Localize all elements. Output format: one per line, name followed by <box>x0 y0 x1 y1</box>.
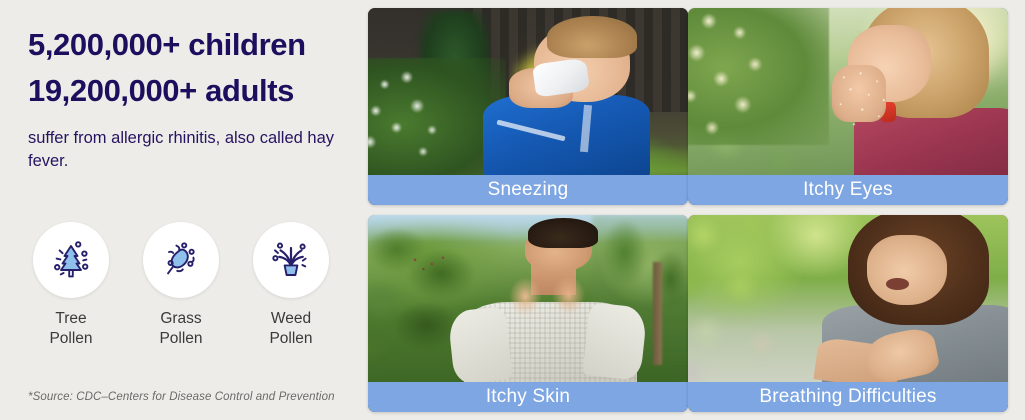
blue-jacket <box>483 95 649 175</box>
weed-pollen-icon <box>253 222 329 298</box>
pollen-item-grass: Grass Pollen <box>126 222 236 350</box>
pollen-label-grass: Grass Pollen <box>159 309 202 350</box>
scratching-hands <box>502 278 592 315</box>
itchy-eyes-photo <box>688 8 1008 175</box>
symptom-card-itchy-skin[interactable]: Itchy Skin <box>368 215 688 412</box>
symptom-cards-grid: Sneezing Itchy Eyes <box>360 0 1025 420</box>
symptom-card-itchy-eyes[interactable]: Itchy Eyes <box>688 8 1008 205</box>
itchy-skin-photo <box>368 215 688 382</box>
red-berries <box>394 252 464 279</box>
symptom-card-breathing-difficulties[interactable]: Breathing Difficulties <box>688 215 1008 412</box>
man-hair <box>528 218 598 248</box>
pollen-item-weed: Weed Pollen <box>236 222 346 350</box>
card-caption-itchy-skin: Itchy Skin <box>368 382 688 412</box>
boy-hair <box>547 16 637 58</box>
source-citation: *Source: CDC–Centers for Disease Control… <box>28 391 335 403</box>
pollen-label-tree: Tree Pollen <box>49 309 92 350</box>
tree-pollen-icon <box>33 222 109 298</box>
card-caption-breathing: Breathing Difficulties <box>688 382 1008 412</box>
woman-face <box>867 235 947 305</box>
blossom-branch <box>688 8 829 145</box>
allergy-infographic: 5,200,000+ children 19,200,000+ adults s… <box>0 0 1025 420</box>
sneezing-photo <box>368 8 688 175</box>
symptom-card-sneezing[interactable]: Sneezing <box>368 8 688 205</box>
pollen-item-tree: Tree Pollen <box>16 222 126 350</box>
card-caption-sneezing: Sneezing <box>368 175 688 205</box>
headline-block: 5,200,000+ children 19,200,000+ adults s… <box>28 26 358 173</box>
tree-trunk <box>653 262 663 366</box>
card-caption-itchy-eyes: Itchy Eyes <box>688 175 1008 205</box>
stats-panel: 5,200,000+ children 19,200,000+ adults s… <box>0 0 360 420</box>
pollen-particles <box>829 68 912 135</box>
grass-pollen-icon <box>143 222 219 298</box>
breathing-difficulties-photo <box>688 215 1008 382</box>
stats-description: suffer from allergic rhinitis, also call… <box>28 127 338 174</box>
stat-adults: 19,200,000+ adults <box>28 72 358 110</box>
pollen-label-weed: Weed Pollen <box>269 309 312 350</box>
pollen-types-row: Tree Pollen <box>16 222 346 350</box>
open-mouth <box>886 278 908 290</box>
left-arm <box>448 306 513 382</box>
stat-children: 5,200,000+ children <box>28 26 358 64</box>
